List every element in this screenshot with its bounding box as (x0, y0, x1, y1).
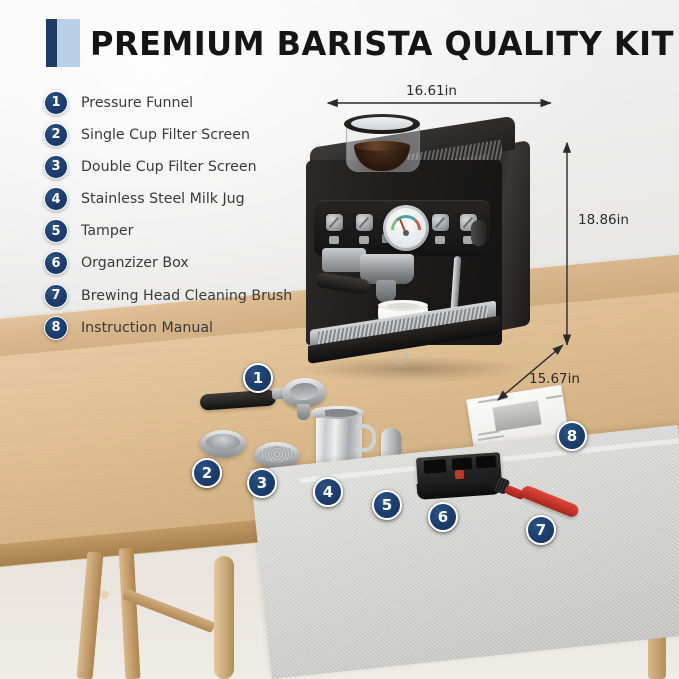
title-text: PREMIUM BARISTA QUALITY KIT (90, 27, 674, 60)
portafilter-bottom-spout (297, 404, 310, 420)
legend-label-5: Tamper (81, 223, 133, 239)
dimension-width-label: 16.61in (406, 83, 457, 99)
title-accent-bar (46, 19, 80, 67)
title-accent-dark (46, 19, 57, 67)
legend-badge-8: 8 (44, 316, 68, 340)
legend-label-6: Organzizer Box (81, 255, 189, 271)
espresso-machine (300, 108, 550, 370)
organizer-slot (476, 455, 497, 468)
list-item: 7 Brewing Head Cleaning Brush (44, 281, 344, 310)
callout-pin-1: 1 (243, 363, 273, 393)
legend-label-4: Stainless Steel Milk Jug (81, 191, 245, 207)
control-knob-shot[interactable] (432, 214, 449, 231)
legend-badge-7: 7 (44, 284, 68, 308)
power-icon (329, 236, 339, 244)
list-item: 1 Pressure Funnel (44, 88, 344, 117)
page-title: PREMIUM BARISTA QUALITY KIT (46, 18, 679, 68)
list-item: 5 Tamper (44, 217, 344, 246)
gauge-scale (391, 215, 421, 230)
legend-label-1: Pressure Funnel (81, 95, 193, 111)
callout-pin-8: 8 (557, 421, 587, 451)
control-knob-power[interactable] (326, 214, 343, 231)
legend-badge-2: 2 (44, 123, 68, 147)
milk-jug-spout (310, 407, 325, 419)
hopper-lid-inner (351, 117, 413, 130)
milk-jug-handle (356, 424, 376, 452)
callout-pin-2: 2 (192, 458, 222, 488)
gauge-hub (403, 230, 409, 236)
product-infographic: PREMIUM BARISTA QUALITY KIT 1 Pressure F… (0, 0, 679, 679)
parts-legend-list: 1 Pressure Funnel 2 Single Cup Filter Sc… (44, 88, 344, 346)
single-shot-icon (435, 236, 445, 244)
legend-badge-4: 4 (44, 187, 68, 211)
list-item: 8 Instruction Manual (44, 313, 344, 342)
portafilter-spout (376, 280, 396, 302)
legend-label-8: Instruction Manual (81, 320, 213, 336)
table-peg (100, 590, 109, 599)
organizer-red-insert (455, 470, 465, 480)
callout-pin-6: 6 (428, 502, 458, 532)
legend-badge-3: 3 (44, 155, 68, 179)
dimension-height-label: 18.86in (578, 212, 629, 228)
list-item: 3 Double Cup Filter Screen (44, 152, 344, 181)
coffee-beans-surface (354, 141, 410, 151)
double-cup-filter-interior (260, 446, 294, 462)
legend-badge-6: 6 (44, 251, 68, 275)
legend-label-2: Single Cup Filter Screen (81, 127, 250, 143)
list-item: 6 Organzizer Box (44, 249, 344, 278)
organizer-slot (424, 459, 447, 474)
callout-pin-4: 4 (313, 477, 343, 507)
grind-icon (359, 236, 369, 244)
pressure-gauge (383, 205, 429, 251)
milk-jug-interior (320, 409, 358, 417)
table-leg-round (214, 556, 234, 679)
gauge-face (386, 208, 426, 248)
callout-pin-7: 7 (526, 515, 556, 545)
callout-pin-3: 3 (247, 468, 277, 498)
legend-label-7: Brewing Head Cleaning Brush (81, 288, 292, 304)
single-cup-filter-interior (206, 434, 240, 450)
organizer-slot (452, 457, 473, 470)
list-item: 4 Stainless Steel Milk Jug (44, 185, 344, 214)
title-accent-light (54, 19, 80, 67)
legend-badge-5: 5 (44, 219, 68, 243)
cup-interior (387, 303, 419, 309)
legend-label-3: Double Cup Filter Screen (81, 159, 257, 175)
control-knob-grind[interactable] (356, 214, 373, 231)
steam-wand-joint (471, 220, 487, 246)
legend-badge-1: 1 (44, 91, 68, 115)
dimension-depth-label: 15.67in (529, 371, 580, 387)
callout-pin-5: 5 (372, 490, 402, 520)
list-item: 2 Single Cup Filter Screen (44, 120, 344, 149)
bean-hopper (344, 114, 420, 172)
